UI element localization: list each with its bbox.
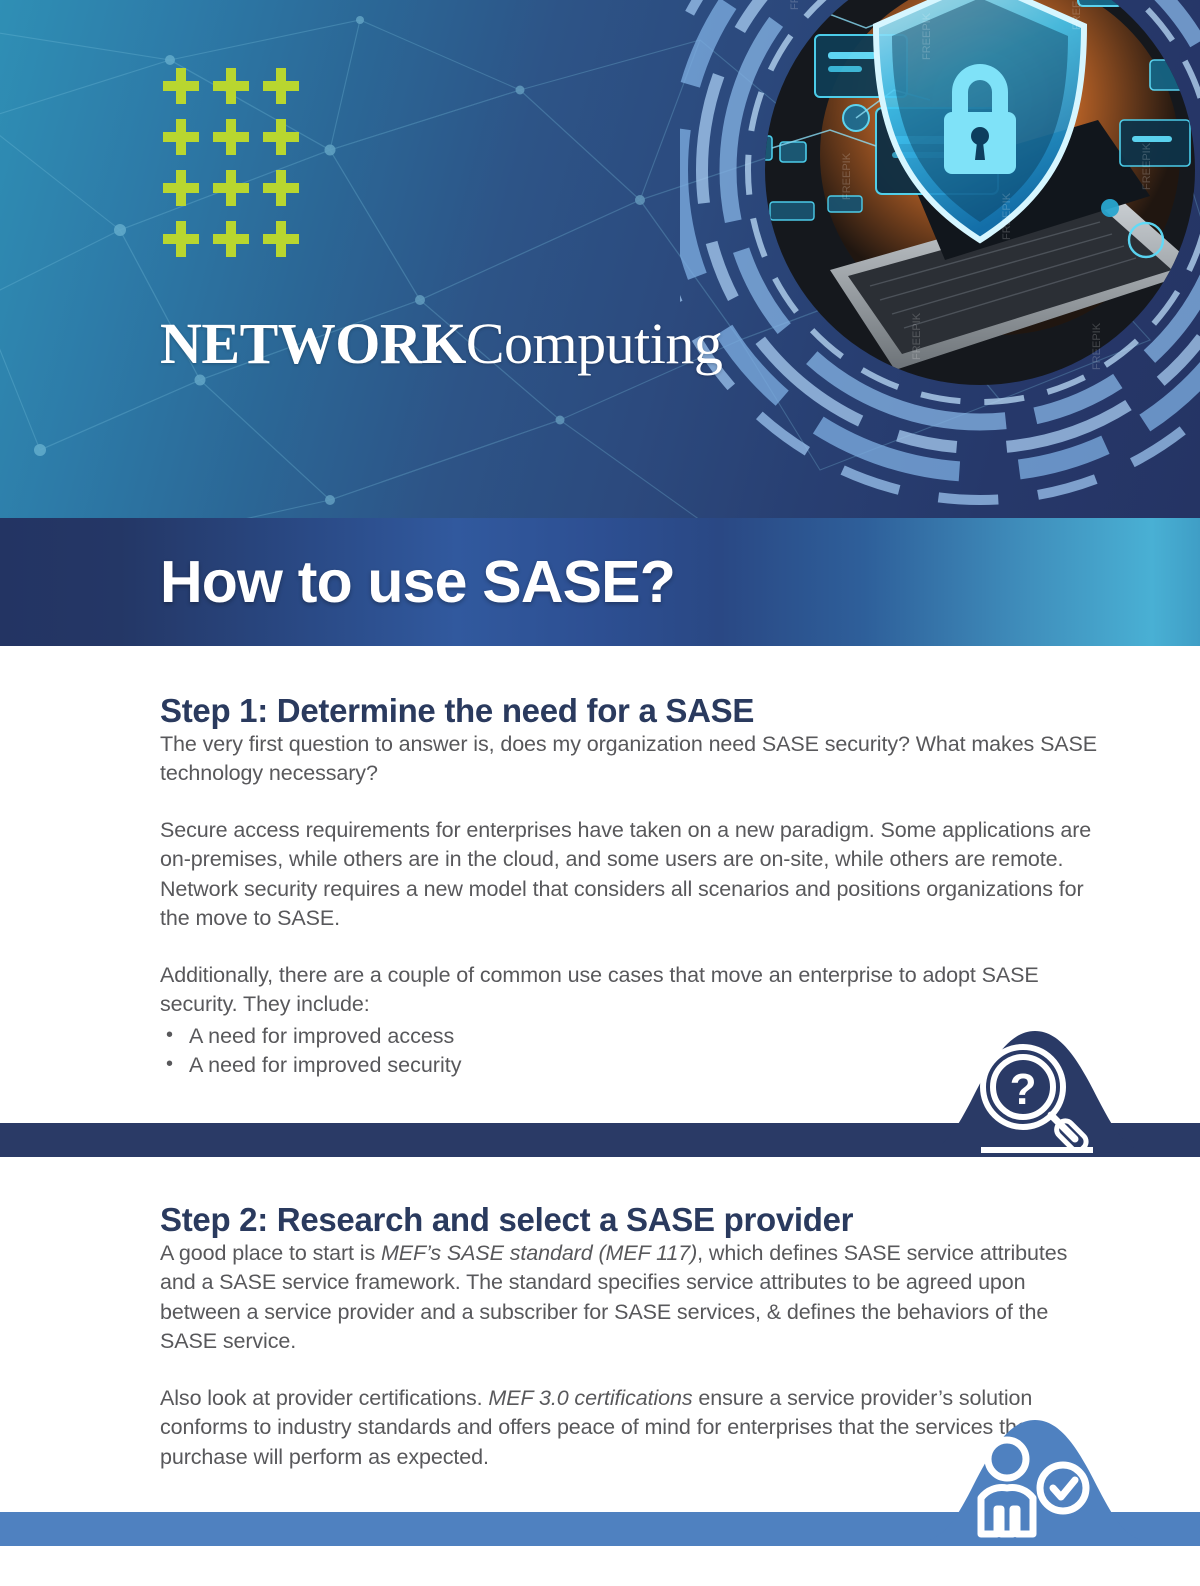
- plus-icon: [213, 221, 249, 257]
- plus-grid-motif: [163, 68, 313, 272]
- plus-icon: [213, 119, 249, 155]
- divider-bar: [0, 1123, 1200, 1157]
- divider-bar: [0, 1512, 1200, 1546]
- svg-text:FREEPIK: FREEPIK: [1071, 0, 1083, 30]
- step-2-p2-lead: Also look at provider certifications.: [160, 1386, 488, 1410]
- plus-icon: [263, 170, 299, 206]
- step-2-p2-italic: MEF 3.0 certifications: [488, 1386, 692, 1410]
- step-1-bullet-list: A need for improved access A need for im…: [160, 1022, 1100, 1081]
- plus-icon: [163, 119, 199, 155]
- section-2-divider: [0, 1512, 1200, 1546]
- step-2-p1-lead: A good place to start is: [160, 1241, 381, 1265]
- step-1-paragraph-2: Secure access requirements for enterpris…: [160, 816, 1100, 934]
- plus-icon: [163, 170, 199, 206]
- brand-logo-regular: Computing: [466, 311, 723, 376]
- plus-icon: [163, 221, 199, 257]
- hero-security-illustration: FREEPIK FREEPIK FREEPIK FREEPIK FREEPIK …: [680, 0, 1200, 518]
- title-banner: How to use SASE?: [0, 518, 1200, 646]
- plus-icon: [163, 68, 199, 104]
- step-2-paragraph-1: A good place to start is MEF’s SASE stan…: [160, 1239, 1100, 1357]
- step-2-p1-italic: MEF’s SASE standard (MEF 117): [381, 1241, 697, 1265]
- plus-icon: [213, 170, 249, 206]
- step-2-paragraph-2: Also look at provider certifications. ME…: [160, 1384, 1100, 1473]
- section-1-divider: ?: [0, 1123, 1200, 1157]
- step-1-paragraph-3: Additionally, there are a couple of comm…: [160, 961, 1100, 1020]
- list-item: A need for improved access: [160, 1022, 1100, 1052]
- hero-header: FREEPIK FREEPIK FREEPIK FREEPIK FREEPIK …: [0, 0, 1200, 518]
- section-step-1: Step 1: Determine the need for a SASE Th…: [0, 646, 1200, 1123]
- step-1-paragraph-1: The very first question to answer is, do…: [160, 730, 1100, 789]
- plus-icon: [263, 221, 299, 257]
- step-1-heading: Step 1: Determine the need for a SASE: [160, 692, 1100, 730]
- svg-text:FREEPIK: FREEPIK: [921, 12, 933, 60]
- svg-text:FREEPIK: FREEPIK: [911, 312, 923, 360]
- plus-icon: [213, 68, 249, 104]
- section-step-2: Step 2: Research and select a SASE provi…: [0, 1157, 1200, 1512]
- plus-icon: [263, 68, 299, 104]
- list-item: A need for improved security: [160, 1051, 1100, 1081]
- brand-logo: NETWORKComputing: [160, 310, 722, 377]
- svg-text:FREEPIK: FREEPIK: [1091, 322, 1103, 370]
- brand-logo-bold: NETWORK: [160, 311, 466, 376]
- page-title: How to use SASE?: [160, 548, 675, 616]
- svg-text:FREEPIK: FREEPIK: [1141, 142, 1153, 190]
- svg-text:FREEPIK: FREEPIK: [841, 152, 853, 200]
- plus-icon: [263, 119, 299, 155]
- svg-text:FREEPIK: FREEPIK: [1001, 192, 1013, 240]
- step-2-heading: Step 2: Research and select a SASE provi…: [160, 1201, 1100, 1239]
- section-step-3-partial: [0, 1546, 1200, 1586]
- svg-text:FREEPIK: FREEPIK: [789, 0, 801, 10]
